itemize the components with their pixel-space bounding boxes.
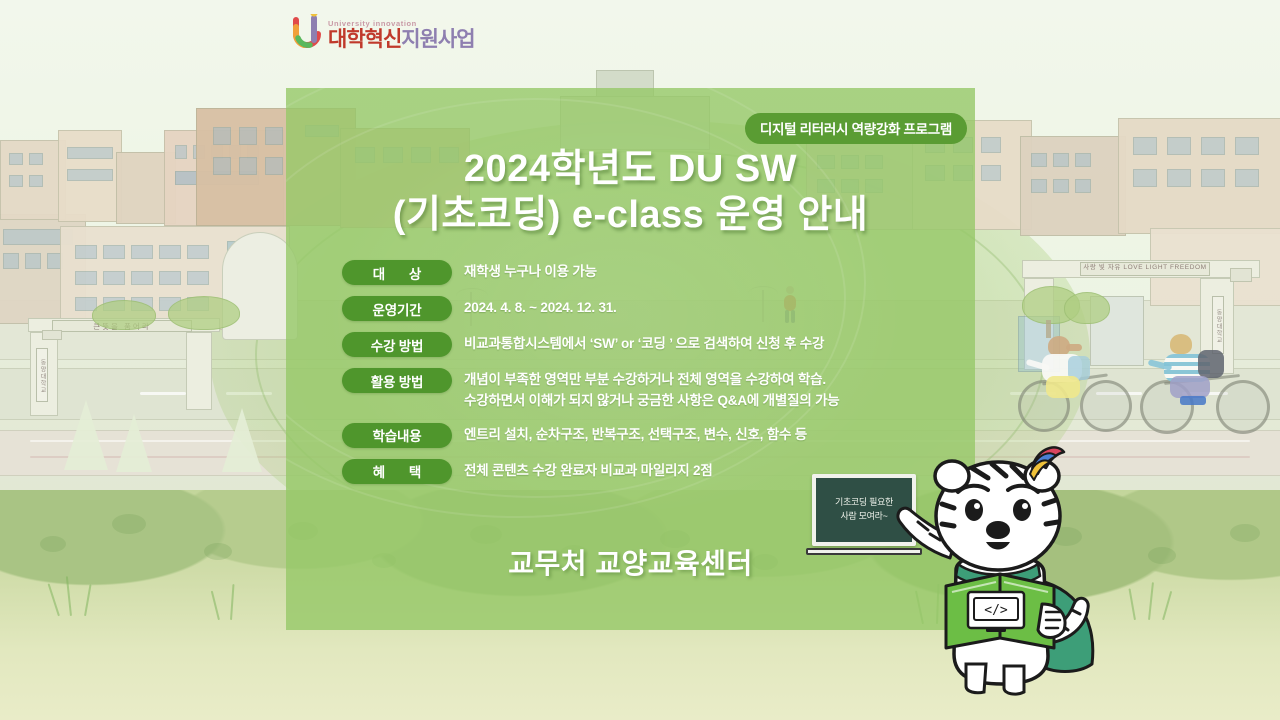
info-row: 수강 방법비교과통합시스템에서 ‘SW’ or ‘코딩 ’ 으로 검색하여 신청… (342, 332, 942, 357)
info-row-value: 재학생 누구나 이용 가능 (452, 260, 942, 283)
title-line-2: (기초코딩) e-class 운영 안내 (286, 192, 975, 238)
svg-text:</>: </> (984, 603, 1008, 618)
info-row-value: 엔트리 설치, 순차구조, 반복구조, 선택구조, 변수, 신호, 함수 등 (452, 423, 942, 446)
building (1020, 136, 1126, 236)
info-row: 학습내용엔트리 설치, 순차구조, 반복구조, 선택구조, 변수, 신호, 함수… (342, 423, 942, 448)
white-tiger-mascot: </> (892, 438, 1120, 700)
program-badge: 디지털 리터러시 역량강화 프로그램 (745, 113, 967, 144)
logo-korean-part2: 지원사업 (401, 28, 474, 51)
info-row-label: 수강 방법 (342, 332, 452, 357)
info-row-value: 비교과통합시스템에서 ‘SW’ or ‘코딩 ’ 으로 검색하여 신청 후 수강 (452, 332, 942, 355)
logo-text: University innovation 대학혁신지원사업 (328, 19, 475, 50)
info-row-label: 활용 방법 (342, 368, 452, 393)
gate-lamp-left (42, 330, 62, 340)
tree (92, 300, 156, 330)
info-row: 활용 방법개념이 부족한 영역만 부분 수강하거나 전체 영역을 수강하여 학습… (342, 368, 942, 412)
info-row-label: 운영기간 (342, 296, 452, 321)
info-row-label: 대 상 (342, 260, 452, 285)
gate-banner-right: 사랑 빛 자유 LOVE LIGHT FREEDOM (1080, 262, 1210, 276)
university-innovation-logo: University innovation 대학혁신지원사업 (292, 14, 475, 50)
info-row-label: 혜 택 (342, 459, 452, 484)
info-row-value: 2024. 4. 8. ~ 2024. 12. 31. (452, 296, 942, 319)
logo-korean-part1: 대학혁신 (328, 28, 401, 51)
info-row-value: 개념이 부족한 영역만 부분 수강하거나 전체 영역을 수강하여 학습.수강하면… (452, 368, 942, 412)
info-row-value-line: 개념이 부족한 영역만 부분 수강하거나 전체 영역을 수강하여 학습. (464, 370, 942, 391)
info-table: 대 상재학생 누구나 이용 가능운영기간2024. 4. 8. ~ 2024. … (342, 260, 942, 495)
building (58, 130, 122, 222)
gate-pillar-left-b (186, 332, 212, 410)
conifer-tree (222, 408, 262, 472)
poster-canvas: 큰뜻을 품어라 동양대학교 사랑 빛 자유 LOVE LIGHT FREEDOM… (0, 0, 1280, 720)
cyclist-figure-2 (1140, 318, 1280, 440)
cyclist-figure-1 (1016, 318, 1146, 438)
info-row-value-line: 수강하면서 이해가 되지 않거나 궁금한 사항은 Q&A에 개별질의 가능 (464, 391, 942, 412)
info-row-value-line: 엔트리 설치, 순차구조, 반복구조, 선택구조, 변수, 신호, 함수 등 (464, 425, 942, 446)
logo-english-text: University innovation (328, 19, 475, 28)
info-row: 운영기간2024. 4. 8. ~ 2024. 12. 31. (342, 296, 942, 321)
info-row-value-line: 2024. 4. 8. ~ 2024. 12. 31. (464, 298, 942, 319)
gate-lamp-right (1230, 268, 1252, 282)
blackboard-line-2: 사람 모여라~ (840, 510, 887, 524)
page-title: 2024학년도 DU SW (기초코딩) e-class 운영 안내 (286, 146, 975, 239)
info-row-label: 학습내용 (342, 423, 452, 448)
info-row: 대 상재학생 누구나 이용 가능 (342, 260, 942, 285)
blackboard-line-1: 기초코딩 필요한 (835, 496, 893, 510)
title-line-1: 2024학년도 DU SW (286, 146, 975, 192)
info-row-value-line: 재학생 누구나 이용 가능 (464, 262, 942, 283)
info-row-value-line: 비교과통합시스템에서 ‘SW’ or ‘코딩 ’ 으로 검색하여 신청 후 수강 (464, 334, 942, 355)
tree (168, 296, 240, 330)
conifer-tree (116, 414, 152, 472)
building (0, 140, 66, 220)
u-mark-icon (292, 14, 322, 50)
conifer-tree (64, 400, 108, 470)
lane-marking (140, 392, 186, 395)
building (1118, 118, 1280, 234)
logo-korean-text: 대학혁신지원사업 (328, 29, 475, 50)
gate-plate-left: 동양대학교 (36, 348, 48, 402)
